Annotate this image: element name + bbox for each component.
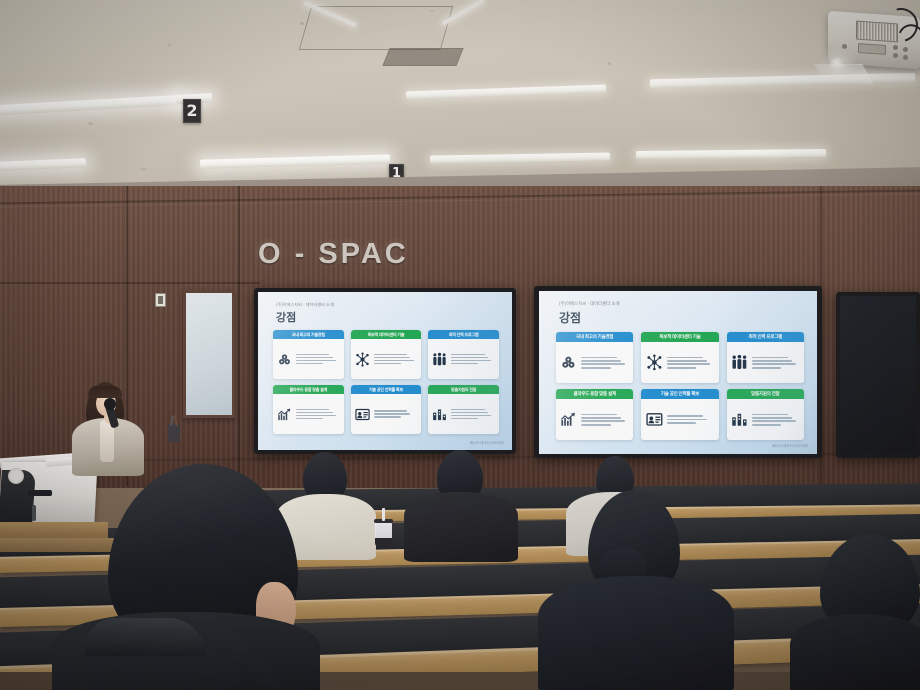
slide-eyebrow: (주)이에스지씨 · 데이터센터 소개 (559, 301, 620, 307)
bar-chart-icon (432, 407, 447, 422)
slide-card-text-line (451, 409, 484, 411)
slide-card-text-lines (752, 414, 800, 426)
gears-group-icon (277, 352, 292, 367)
cup-sleeve (375, 538, 392, 547)
slide-footer: 에너지·데이터 ESG센터 (470, 440, 504, 445)
slide-eyebrow: (주)이에스지씨 · 데이터센터 소개 (276, 302, 334, 308)
network-node-icon (355, 352, 370, 367)
slide-card-text-line (667, 360, 707, 362)
slide-card-header: 국내 최고의 기술경험 (273, 330, 344, 339)
slide-card-text-lines (451, 354, 495, 365)
left-display-slide: (주)이에스지씨 · 데이터센터 소개 강점 국내 최고의 기술경험독보적 데이… (258, 292, 512, 450)
slide-card-text-line (752, 420, 796, 422)
id-card-icon (355, 407, 370, 422)
slide-card-text-line (451, 357, 488, 359)
jacket-hood (86, 618, 206, 656)
slide-card-header: 클라우드 융합 맞춤 설계 (556, 389, 633, 399)
ceiling-speck (168, 44, 171, 46)
whiteboard-panel (183, 290, 235, 418)
lectern-base (0, 522, 108, 538)
far-right-display-off (840, 296, 916, 454)
slide-card-text-line (667, 363, 711, 365)
slide-card-body (428, 394, 499, 434)
torso (790, 614, 920, 690)
slide-card-text-line (374, 416, 401, 418)
ceiling-row-sign-2: 2 (183, 99, 201, 123)
slide-card-text-lines (374, 354, 418, 365)
slide-card-header: 기술 공인 인력풀 확보 (641, 389, 718, 399)
slide-card-text-line (296, 357, 333, 359)
slide-card: 기술 공인 인력풀 확보 (641, 389, 718, 440)
slide-card: 국내 최고의 기술경험 (556, 332, 633, 383)
slide-card: 클라우드 융합 맞춤 설계 (556, 389, 633, 440)
slide-card-header: 최적 인력 프로그램 (428, 330, 499, 339)
projector-knob (893, 53, 898, 58)
wood-seam (0, 282, 260, 284)
slide-card-grid: 국내 최고의 기술경험독보적 데이터센터 기술최적 인력 프로그램클라우드 융합… (556, 332, 804, 440)
gears-group-icon (560, 354, 577, 371)
slide-card-text-line (752, 424, 782, 426)
slide-card-header: 기술 공인 인력풀 확보 (351, 385, 422, 394)
slide-card-text-line (451, 418, 478, 420)
slide-card-text-line (667, 357, 703, 359)
slide-card: 최적 인력 프로그램 (428, 330, 499, 379)
slide-card-text-line (296, 363, 323, 365)
slide-card-body (428, 339, 499, 379)
network-node-icon (646, 354, 663, 371)
desk-organizer (168, 424, 180, 442)
slide-card-text-lines (296, 354, 340, 365)
slide-card-header: 클라우드 융합 맞춤 설계 (273, 385, 344, 394)
slide-card-body (556, 342, 633, 383)
ceiling-speck (140, 168, 147, 171)
projector-control-panel (858, 43, 886, 55)
slide-card-header: 국내 최고의 기술경험 (556, 332, 633, 342)
slide-card-text-line (581, 417, 621, 419)
slide-card-text-line (374, 363, 401, 365)
wood-seam (238, 186, 240, 486)
slide-card-body (556, 399, 633, 440)
growth-chart-icon (560, 411, 577, 428)
slide-card-header: 독보적 데이터센터 기술 (351, 330, 422, 339)
projector-knob (842, 44, 847, 49)
projector-knob (893, 45, 898, 50)
ceiling-speck (608, 62, 611, 65)
slide-card-text-line (667, 415, 703, 417)
slide-card-text-line (581, 420, 625, 422)
slide-card-text-line (374, 413, 411, 415)
right-display-slide: (주)이에스지씨 · 데이터센터 소개 강점 국내 최고의 기술경험독보적 데이… (539, 291, 817, 454)
slide-title: 강점 (276, 309, 296, 325)
id-card-icon (646, 411, 663, 428)
wall-control-switch[interactable] (155, 293, 166, 307)
ceiling-speck (88, 122, 93, 125)
slide-card-text-line (581, 357, 617, 359)
slide-card: 최적 인력 프로그램 (727, 332, 804, 383)
slide-card-text-line (752, 357, 788, 359)
slide-card: 독보적 데이터센터 기술 (641, 332, 718, 383)
left-display-bezel: (주)이에스지씨 · 데이터센터 소개 강점 국내 최고의 기술경험독보적 데이… (254, 288, 516, 454)
torso (538, 576, 734, 690)
slide-card-text-lines (374, 410, 418, 418)
slide-card-text-line (374, 410, 407, 412)
slide-card-text-lines (752, 357, 800, 369)
growth-chart-icon (277, 407, 292, 422)
slide-card-text-line (374, 357, 411, 359)
slide-card-text-line (752, 360, 792, 362)
slide-card-text-line (752, 363, 796, 365)
slide-card-text-line (752, 417, 792, 419)
slide-card-text-line (451, 415, 491, 417)
three-people-icon (731, 354, 748, 371)
slide-card: 기술 공인 인력풀 확보 (351, 385, 422, 434)
slide-card: 맞춤지원의 전달 (727, 389, 804, 440)
projector-knob (903, 55, 908, 60)
lectern-gooseneck-mic (32, 505, 36, 521)
slide-card-text-line (581, 363, 625, 365)
slide-card-grid: 국내 최고의 기술경험독보적 데이터센터 기술최적 인력 프로그램클라우드 융합… (273, 330, 499, 434)
slide-card-header: 맞춤지원의 전달 (428, 385, 499, 394)
slide-card-text-lines (581, 357, 629, 369)
slide-card-text-lines (451, 409, 495, 420)
slide-card-text-line (752, 414, 788, 416)
slide-card-body (273, 339, 344, 379)
slide-card-body (351, 339, 422, 379)
bar-chart-icon (731, 411, 748, 428)
slide-card-text-line (581, 414, 617, 416)
slide-card-text-line (374, 354, 407, 356)
slide-card-text-lines (581, 414, 629, 426)
slide-card-text-lines (296, 409, 340, 420)
slide-card-text-line (451, 354, 484, 356)
slide-card-text-line (296, 354, 329, 356)
slide-card-text-lines (667, 357, 715, 369)
cup-straw (382, 508, 385, 521)
ceiling-vent (382, 48, 463, 66)
slide-footer: 에너지·데이터 ESG센터 (772, 444, 808, 449)
slide-title: 강점 (559, 309, 581, 326)
lectern-button-strip[interactable] (28, 490, 52, 496)
slide-card-text-line (296, 415, 336, 417)
lecture-hall-photo: 2 1 O - SPAC (주)이에스지씨 · 데이터센터 소개 강점 국내 최… (0, 0, 920, 690)
slide-card-header: 독보적 데이터센터 기술 (641, 332, 718, 342)
slide-card-text-line (296, 418, 323, 420)
slide-card-text-line (667, 419, 707, 421)
slide-card-text-line (752, 367, 782, 369)
slide-card-text-line (667, 367, 697, 369)
slide-card-text-line (296, 360, 336, 362)
far-right-display-bezel (836, 292, 920, 458)
slide-card-text-line (581, 360, 621, 362)
torso (404, 492, 518, 562)
ceiling-speck (300, 22, 304, 25)
presenter-bangs (88, 386, 122, 398)
slide-card-body (351, 394, 422, 434)
right-display-bezel: (주)이에스지씨 · 데이터센터 소개 강점 국내 최고의 기술경험독보적 데이… (534, 286, 822, 458)
slide-card-text-line (374, 360, 414, 362)
slide-card-text-line (451, 360, 491, 362)
slide-card-text-line (581, 424, 611, 426)
slide-card-body (727, 342, 804, 383)
slide-card-body (273, 394, 344, 434)
slide-card: 독보적 데이터센터 기술 (351, 330, 422, 379)
slide-card-text-lines (667, 415, 715, 424)
slide-card-text-line (667, 422, 697, 424)
lectern-dial[interactable] (8, 468, 24, 484)
three-people-icon (432, 352, 447, 367)
slide-card-body (727, 399, 804, 440)
slide-card: 국내 최고의 기술경험 (273, 330, 344, 379)
slide-card-header: 맞춤지원의 전달 (727, 389, 804, 399)
slide-card-text-line (451, 412, 488, 414)
slide-card: 맞춤지원의 전달 (428, 385, 499, 434)
slide-card-body (641, 342, 718, 383)
slide-card-header: 최적 인력 프로그램 (727, 332, 804, 342)
slide-card-text-line (451, 363, 478, 365)
slide-card: 클라우드 융합 맞춤 설계 (273, 385, 344, 434)
room-name-sign: O - SPAC (258, 238, 409, 271)
slide-card-body (641, 399, 718, 440)
slide-card-text-line (296, 409, 329, 411)
microphone-head (104, 398, 116, 410)
slide-card-text-line (581, 367, 611, 369)
slide-card-text-line (296, 412, 333, 414)
